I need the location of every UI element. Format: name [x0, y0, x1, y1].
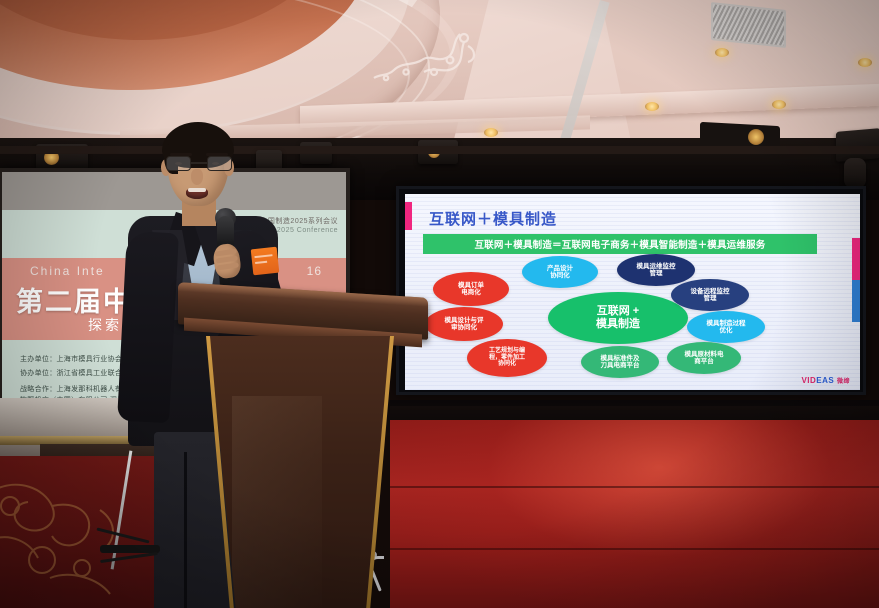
bubble-mold-om-monitor: 模具运维监控 管理 [617, 254, 695, 286]
nose [191, 169, 203, 185]
bubble-line: 模具运维监控 [637, 263, 676, 270]
light-yoke-icon [844, 158, 866, 188]
bubble-line: 产品设计 [547, 265, 573, 272]
led-presentation-screen: 互联网＋模具制造 互联网＋模具制造＝互联网电子商务＋模具智能制造＋模具运维服务 … [396, 186, 866, 395]
slide-accent-right-blue [852, 280, 860, 322]
red-stage-carpet [390, 420, 879, 608]
slide-equation-text: 互联网＋模具制造＝互联网电子商务＋模具智能制造＋模具运维服务 [474, 237, 765, 251]
bubble-mold-standard-parts-platform: 模具标准件及 刀具电商平台 [581, 346, 659, 378]
downlight-icon [858, 58, 872, 67]
bubble-line: 协同化 [489, 361, 525, 368]
bubble-line: 互联网 + [596, 305, 640, 318]
bubble-mold-design-review: 模具设计与评 审协同化 [425, 307, 503, 341]
bubble-line: 模具制造 [596, 318, 640, 331]
bubble-mold-manufacturing-process: 模具制造过程 优化 [687, 311, 765, 343]
logo-part-1: VID [801, 376, 816, 385]
slide-equation-banner: 互联网＋模具制造＝互联网电子商务＋模具智能制造＋模具运维服务 [423, 234, 817, 254]
teeth [188, 188, 206, 192]
bubble-line: 模具标准件及 [601, 355, 640, 362]
badge-text-line [254, 254, 272, 258]
conference-photo-scene: 中国制造2025系列会议 Made in china 2025 Conferen… [0, 0, 879, 608]
lens-left [166, 156, 191, 171]
backdrop-english-title: China Inte [30, 264, 105, 278]
badge-text-line [255, 261, 267, 264]
bubble-line: 管理 [637, 270, 676, 277]
bubble-equipment-remote-monitor: 设备远程监控 管理 [671, 279, 749, 311]
bubble-product-design: 产品设计 协同化 [522, 256, 598, 288]
bubble-mold-order-ecommerce: 模具订单 电商化 [433, 272, 509, 306]
bubble-line: 模具设计与评 [445, 317, 484, 324]
projector-lens-icon [748, 129, 764, 145]
logo-chinese: 微缔 [837, 379, 850, 385]
glasses-bridge [191, 162, 207, 164]
bubble-mold-raw-material-platform: 模具原材料电 商平台 [667, 342, 741, 374]
bubble-line: 模具原材料电 [685, 351, 724, 358]
bubble-line: 管理 [691, 295, 730, 302]
arm-left [117, 231, 179, 423]
bubble-line: 优化 [707, 327, 746, 334]
videas-logo: VIDEAS 微缔 [801, 376, 850, 385]
podium-sheen [232, 396, 322, 608]
finger [217, 262, 239, 270]
bubble-line: 商平台 [685, 358, 724, 365]
downlight-icon [772, 100, 786, 109]
downlight-icon [645, 102, 659, 111]
bubble-line: 电商化 [458, 289, 484, 296]
slide-accent-left [405, 202, 412, 230]
slide-accent-right-pink [852, 238, 860, 280]
bubble-line: 刀具电商平台 [601, 362, 640, 369]
bubble-center-internet-plus-mold: 互联网 + 模具制造 [548, 292, 688, 344]
slide-title: 互联网＋模具制造 [429, 208, 557, 229]
bubble-line: 模具订单 [458, 282, 484, 289]
bubble-line: 审协同化 [445, 324, 484, 331]
carpet-seam [390, 486, 879, 488]
downlight-icon [484, 128, 498, 137]
ac-vent-icon [711, 2, 786, 48]
ceiling-ornament-icon [372, 28, 482, 88]
logo-part-2: EAS [816, 376, 834, 385]
carpet-seam [390, 548, 879, 550]
bubble-line: 模具制造过程 [707, 320, 746, 327]
bubble-line: 设备远程监控 [691, 288, 730, 295]
stage-light-icon [836, 128, 879, 162]
bubble-line: 协同化 [547, 272, 573, 279]
name-badge [251, 247, 280, 276]
slide-canvas: 互联网＋模具制造 互联网＋模具制造＝互联网电子商务＋模具智能制造＋模具运维服务 … [405, 194, 860, 390]
bubble-line: 工艺规划与编 [489, 348, 525, 355]
bubble-process-planning: 工艺规划与编 程，零件加工 协同化 [467, 339, 547, 377]
lens-right [207, 156, 232, 171]
podium [178, 290, 428, 608]
downlight-icon [715, 48, 729, 57]
